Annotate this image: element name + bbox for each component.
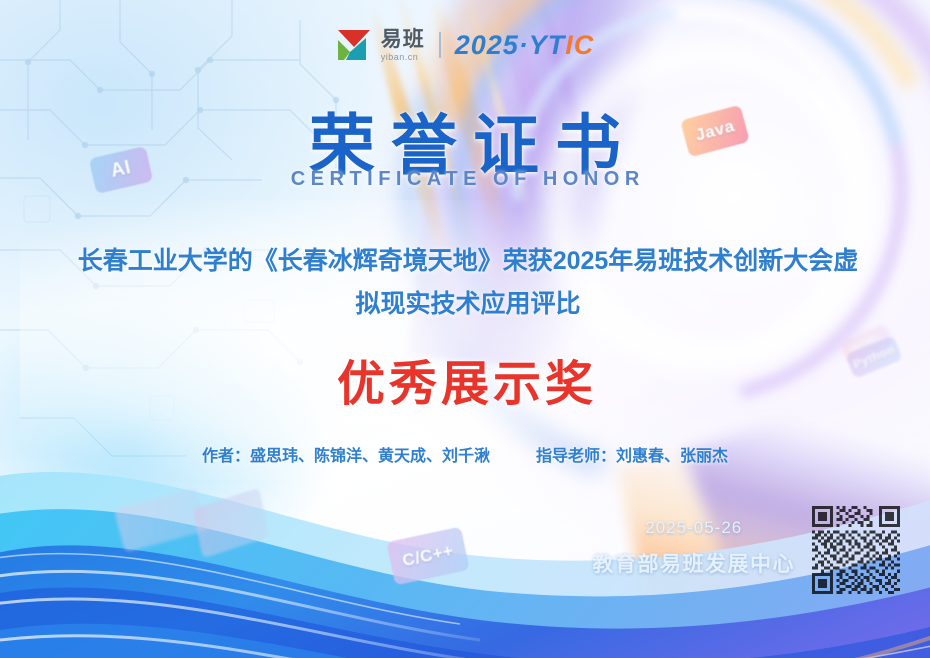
citation-line-1: 长春工业大学的《长春冰辉奇境天地》荣获2025年易班技术创新大会虚 [38,240,898,283]
header-lockup: 易班 yiban.cn 2025·YTIC [0,28,930,62]
vertical-divider-icon [439,32,441,58]
event-wordmark-tail: IC [565,30,594,60]
brand-name-en: yiban.cn [381,53,425,62]
certificate-canvas: AI Java C/C++ HTML Python 易班 yiban.cn [0,0,930,658]
citation-text: 长春工业大学的《长春冰辉奇境天地》荣获2025年易班技术创新大会虚 拟现实技术应… [38,240,898,326]
credits-row: 作者：盛思玮、陈锦洋、黄天成、刘千湫 指导老师：刘惠春、张丽杰 [0,442,930,466]
certificate-content: 易班 yiban.cn 2025·YTIC 荣誉证书 CERTIFICATE O… [0,0,930,658]
yiban-logo-icon [336,28,374,62]
authors-text: 作者：盛思玮、陈锦洋、黄天成、刘千湫 [202,442,490,466]
issue-date: 2025-05-26 [593,518,796,538]
qr-code-icon[interactable] [812,506,900,594]
brand-name-cn: 易班 [381,29,425,50]
advisors-text: 指导老师：刘惠春、张丽杰 [536,442,728,466]
event-wordmark: 2025·YTIC [455,30,595,61]
citation-line-2: 拟现实技术应用评比 [38,283,898,326]
page-subtitle: CERTIFICATE OF HONOR [0,168,930,191]
yiban-brand: 易班 yiban.cn [336,28,425,62]
yiban-wordmark: 易班 yiban.cn [381,29,425,62]
event-wordmark-main: 2025·YT [455,30,566,60]
award-name: 优秀展示奖 [0,344,930,414]
issuer-name: 教育部易班发展中心 [593,548,796,578]
signature-block: 2025-05-26 教育部易班发展中心 [593,518,796,578]
